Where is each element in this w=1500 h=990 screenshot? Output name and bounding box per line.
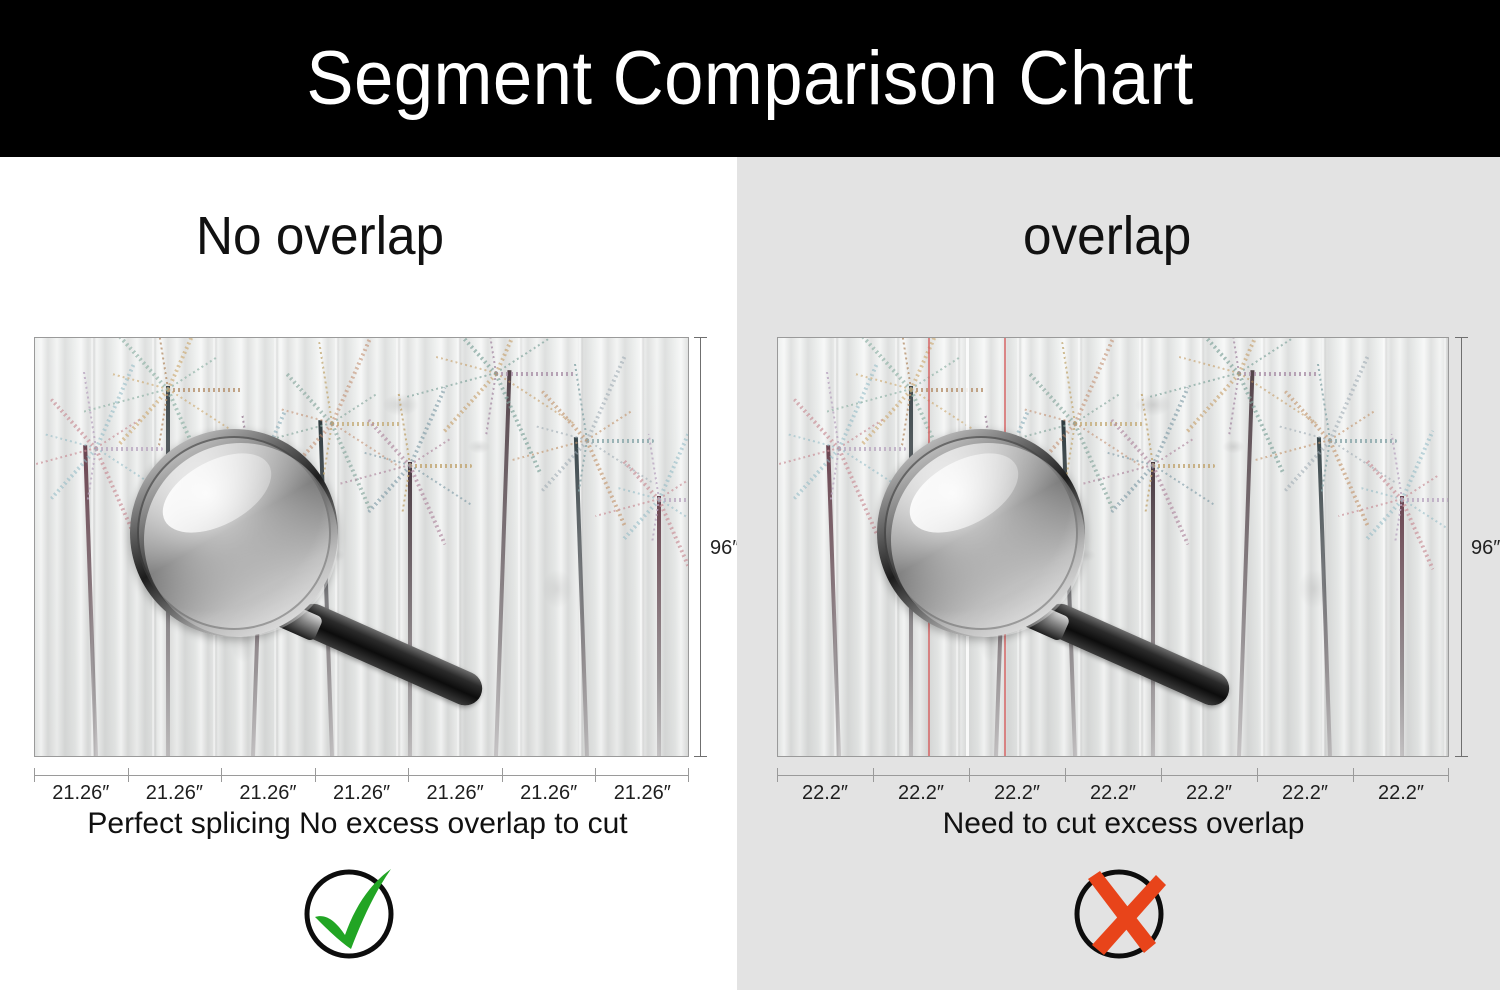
height-label-left: 96″ <box>710 537 739 560</box>
title-bar: Segment Comparison Chart <box>0 0 1500 157</box>
segment-dimension-line-left: 21.26″21.26″21.26″21.26″21.26″21.26″21.2… <box>34 775 689 776</box>
palm-frond <box>332 422 400 426</box>
palm-trunk <box>251 479 265 756</box>
segment-tick: 22.2″ <box>777 775 873 776</box>
segment-width-label: 21.26″ <box>315 782 409 805</box>
check-circle-icon <box>299 861 415 967</box>
palm-frond <box>168 388 243 392</box>
height-label-right: 96″ <box>1471 537 1500 560</box>
segment-tick: 22.2″ <box>1257 775 1353 776</box>
palm-trunk <box>318 420 334 756</box>
palm-frond <box>410 464 472 468</box>
overlap-seam-line <box>928 338 930 756</box>
palm-trunk <box>1400 496 1404 756</box>
segment-width-label: 22.2″ <box>873 782 969 805</box>
wood-plank-texture <box>35 338 688 756</box>
palm-trunk <box>1237 370 1254 756</box>
segment-width-label: 21.26″ <box>128 782 222 805</box>
segment-tick: 22.2″ <box>1161 775 1257 776</box>
palm-trunk <box>1151 462 1155 756</box>
segment-width-label: 21.26″ <box>408 782 502 805</box>
palm-trunk <box>408 462 412 756</box>
segment-width-label: 22.2″ <box>1257 782 1353 805</box>
segment-comparison-page: Segment Comparison Chart No overlap <box>0 0 1500 990</box>
mural-image-no-overlap <box>34 337 689 757</box>
segment-width-label: 22.2″ <box>969 782 1065 805</box>
palm-frond <box>911 388 986 392</box>
palm-trunk <box>1317 437 1332 756</box>
palm-trunk <box>826 445 841 756</box>
overlap-seam-line <box>1004 338 1006 756</box>
segment-tick: 22.2″ <box>969 775 1065 776</box>
badge-check <box>0 861 737 967</box>
segment-width-label: 21.26″ <box>595 782 689 805</box>
palm-trunk <box>574 437 589 756</box>
wood-knot-texture <box>35 338 688 756</box>
palm-frond <box>96 447 163 451</box>
panel-overlap: overlap <box>737 157 1500 990</box>
palm-frond <box>1239 372 1318 376</box>
palm-frond <box>1075 422 1143 426</box>
caption-overlap: Need to cut excess overlap <box>737 807 1500 841</box>
segment-tick: 21.26″ <box>502 775 596 776</box>
palm-frond <box>441 337 497 375</box>
palm-trunk <box>83 445 98 756</box>
palm-frond <box>587 439 654 443</box>
palm-frond <box>496 372 575 376</box>
panel-heading-no-overlap: No overlap <box>196 205 444 267</box>
palm-frond <box>409 387 447 467</box>
segment-width-label: 21.26″ <box>502 782 596 805</box>
segment-tick: 21.26″ <box>408 775 502 776</box>
segment-tick: 21.26″ <box>221 775 315 776</box>
cross-circle-icon <box>1064 861 1180 967</box>
segment-tick: 21.26″ <box>315 775 409 776</box>
segment-tick: 22.2″ <box>1353 775 1449 776</box>
palm-frond <box>253 481 311 485</box>
panel-no-overlap: No overlap <box>0 157 737 990</box>
segment-width-label: 21.26″ <box>221 782 315 805</box>
palm-trunk <box>657 496 661 756</box>
palm-trunk <box>166 386 170 756</box>
segment-tick: 22.2″ <box>873 775 969 776</box>
palm-trunk <box>909 386 913 756</box>
segment-tick: 21.26″ <box>595 775 689 776</box>
badge-cross <box>737 861 1500 967</box>
palm-trunk <box>494 370 511 756</box>
comparison-panels: No overlap <box>0 157 1500 990</box>
mural-image-overlap <box>777 337 1449 757</box>
overlap-seam-gap <box>966 338 969 756</box>
palm-frond <box>1402 498 1449 502</box>
caption-no-overlap: Perfect splicing No excess overlap to cu… <box>0 807 737 841</box>
segment-width-label: 22.2″ <box>777 782 873 805</box>
page-title: Segment Comparison Chart <box>306 41 1193 117</box>
palm-trunk <box>1061 420 1077 756</box>
segment-tick: 21.26″ <box>128 775 222 776</box>
palm-frond <box>839 447 906 451</box>
segment-width-label: 22.2″ <box>1161 782 1257 805</box>
palm-frond <box>1152 387 1190 467</box>
panel-heading-overlap: overlap <box>1023 205 1191 267</box>
segment-width-label: 21.26″ <box>34 782 128 805</box>
palm-frond <box>1184 337 1240 375</box>
mural-figure-overlap: 96″ 22.2″22.2″22.2″22.2″22.2″22.2″22.2″ <box>777 337 1449 757</box>
palm-frond <box>1330 439 1397 443</box>
segment-tick: 21.26″ <box>34 775 128 776</box>
palm-frond <box>1153 464 1215 468</box>
segment-dimension-line-right: 22.2″22.2″22.2″22.2″22.2″22.2″22.2″ <box>777 775 1449 776</box>
segment-width-label: 22.2″ <box>1353 782 1449 805</box>
mural-figure-no-overlap: 96″ 21.26″21.26″21.26″21.26″21.26″21.26″… <box>34 337 689 757</box>
segment-tick: 22.2″ <box>1065 775 1161 776</box>
height-dimension-line-right <box>1461 337 1462 757</box>
segment-width-label: 22.2″ <box>1065 782 1161 805</box>
height-dimension-line-left <box>700 337 701 757</box>
